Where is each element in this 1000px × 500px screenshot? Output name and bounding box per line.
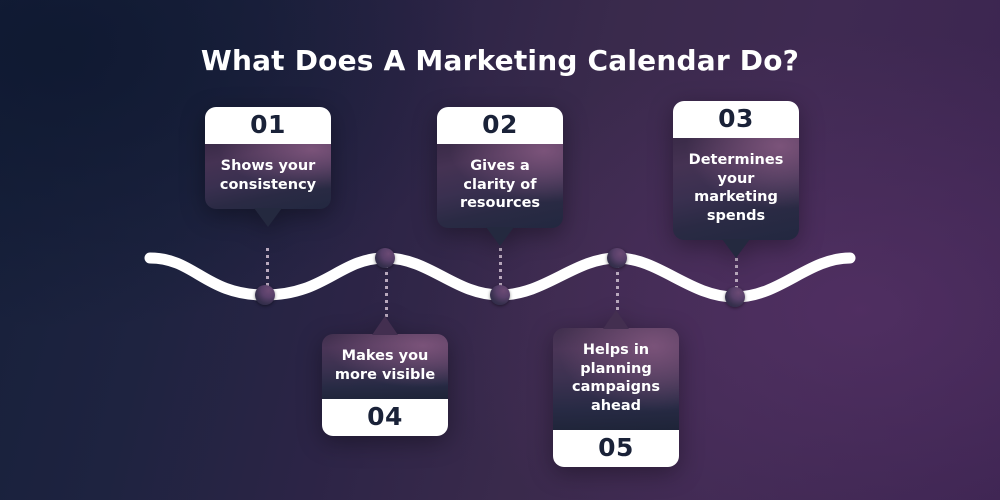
wave-dot-03: [725, 287, 745, 307]
card-03[interactable]: 03 Determines your marketing spends: [673, 101, 799, 240]
card-03-text: Determines your marketing spends: [673, 138, 799, 240]
wave-dot-04: [375, 248, 395, 268]
card-04-text: Makes you more visible: [322, 334, 448, 399]
card-01-pointer-icon: [254, 208, 282, 227]
wave-dot-05: [607, 248, 627, 268]
card-03-pointer-icon: [722, 239, 750, 258]
card-02-pointer-icon: [486, 227, 514, 246]
card-04-number: 04: [322, 399, 448, 436]
card-02-text: Gives a clarity of resources: [437, 144, 563, 228]
infographic-canvas: What Does A Marketing Calendar Do? 01 Sh…: [0, 0, 1000, 500]
wave-dot-01: [255, 285, 275, 305]
card-02-number: 02: [437, 107, 563, 144]
card-01-text: Shows your consistency: [205, 144, 331, 209]
wave-dot-02: [490, 285, 510, 305]
card-05[interactable]: Helps in planning campaigns ahead 05: [553, 328, 679, 467]
card-05-number: 05: [553, 430, 679, 467]
card-05-pointer-icon: [603, 310, 629, 329]
card-01[interactable]: 01 Shows your consistency: [205, 107, 331, 209]
page-title: What Does A Marketing Calendar Do?: [0, 44, 1000, 77]
card-04-pointer-icon: [372, 316, 398, 335]
card-05-text: Helps in planning campaigns ahead: [553, 328, 679, 430]
card-02[interactable]: 02 Gives a clarity of resources: [437, 107, 563, 228]
card-04[interactable]: Makes you more visible 04: [322, 334, 448, 436]
card-03-number: 03: [673, 101, 799, 138]
card-01-number: 01: [205, 107, 331, 144]
